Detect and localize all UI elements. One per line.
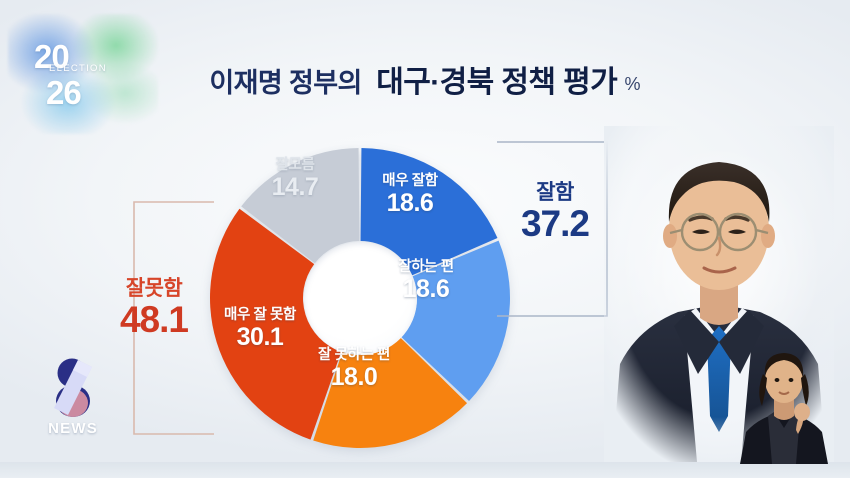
summary-bad: 잘못함 48.1: [88, 200, 216, 436]
sign-language-interpreter: [736, 346, 832, 464]
broadcast-graphic: 20 ELECTION 26 NEWS 이재명 정부의 대구·경북 정책 평가 …: [0, 0, 850, 478]
summary-bad-value: 48.1: [96, 301, 212, 339]
donut-chart: 매우 잘함 18.6 잘하는 편 18.6 잘 못하는 편 18.0 매우 잘 …: [205, 143, 515, 453]
interpreter-illustration: [736, 346, 832, 464]
page-title: 이재명 정부의 대구·경북 정책 평가 %: [0, 57, 850, 101]
bottom-strip: [0, 462, 850, 478]
title-part1: 이재명 정부의: [209, 68, 361, 98]
donut-center-hole: [304, 242, 417, 355]
summary-bad-text: 잘못함 48.1: [96, 278, 212, 339]
summary-bad-name: 잘못함: [96, 278, 212, 299]
title-part2: 대구·경북 정책 평가: [376, 66, 617, 99]
title-unit: %: [625, 74, 641, 94]
